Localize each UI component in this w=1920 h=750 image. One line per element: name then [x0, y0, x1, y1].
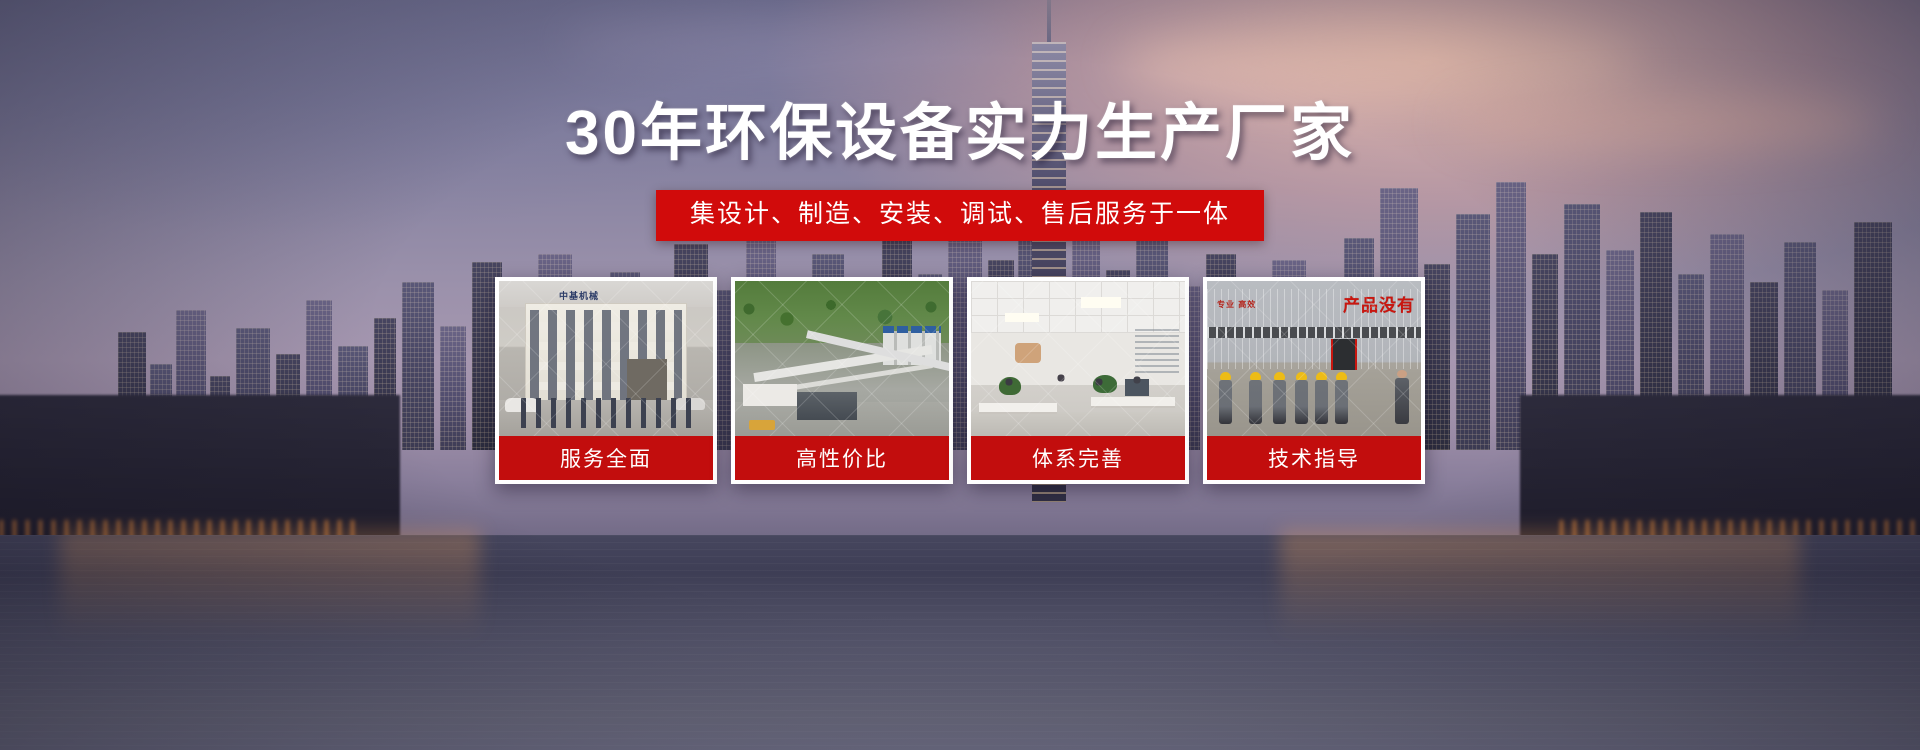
industrial-plant-aerial-photo: [735, 281, 949, 436]
office-interior-photo: [971, 281, 1185, 436]
feature-card-label: 体系完善: [971, 436, 1185, 480]
feature-card-label: 高性价比: [735, 436, 949, 480]
feature-card[interactable]: 高性价比: [731, 277, 953, 484]
factory-workshop-workers-photo: 专业 高效 产品没有: [1207, 281, 1421, 436]
feature-card-label: 技术指导: [1207, 436, 1421, 480]
feature-card[interactable]: 体系完善: [967, 277, 1189, 484]
feature-card-label: 服务全面: [499, 436, 713, 480]
feature-card[interactable]: 专业 高效 产品没有 技术指导: [1203, 277, 1425, 484]
workshop-sign-text: 产品没有: [1343, 291, 1415, 316]
subtitle-banner: 集设计、制造、安装、调试、售后服务于一体: [656, 190, 1264, 241]
company-headquarters-building-photo: 中基机械: [499, 281, 713, 436]
hero-banner: 30年环保设备实力生产厂家 集设计、制造、安装、调试、售后服务于一体 中基机械 …: [0, 0, 1920, 750]
building-sign-text: 中基机械: [559, 289, 599, 302]
feature-card[interactable]: 中基机械 服务全面: [495, 277, 717, 484]
feature-card-list: 中基机械 服务全面: [495, 277, 1425, 484]
workshop-slogan-small: 专业 高效: [1217, 299, 1256, 310]
page-title: 30年环保设备实力生产厂家: [565, 103, 1355, 165]
